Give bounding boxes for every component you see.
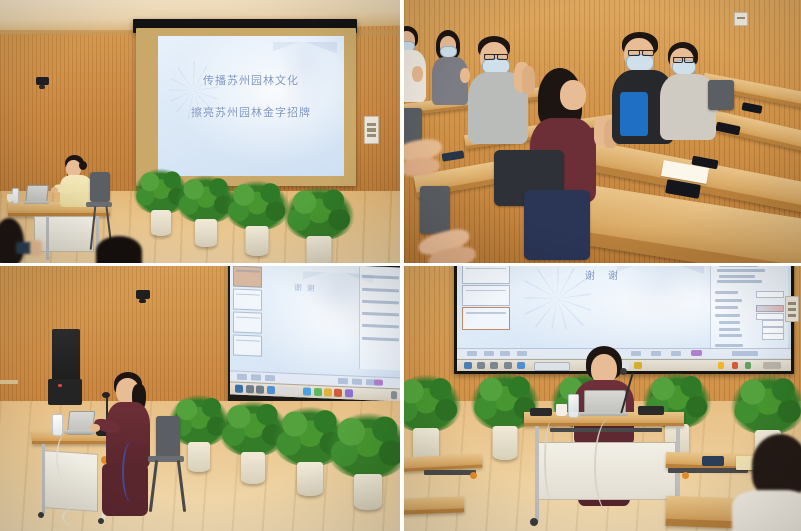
foreground-attendee-hand (30, 240, 42, 256)
chair (524, 190, 590, 260)
presenter-hand (90, 424, 100, 432)
slide-thumbnail[interactable] (233, 335, 262, 357)
wall-socket-icon (785, 296, 799, 322)
projector-screen-frame: 谢 谢 (228, 266, 400, 404)
taskview-icon[interactable] (504, 362, 512, 369)
status-item[interactable] (338, 378, 348, 384)
status-item[interactable] (651, 351, 661, 357)
tray-icon[interactable] (732, 362, 738, 369)
attendee-hand (460, 68, 470, 83)
foreground-attendee-hair (752, 434, 801, 496)
app-icon[interactable] (324, 388, 332, 396)
desk-leg (535, 426, 539, 522)
paper-cup (7, 194, 13, 202)
search-icon[interactable] (477, 362, 485, 369)
foreground-attendee (0, 214, 54, 263)
presenter-hand (51, 187, 58, 193)
projector-screen-surface: 传播苏州园林文化 擦亮苏州园林金字招牌 (158, 36, 344, 176)
potted-plant (283, 186, 355, 263)
floor-cable (544, 422, 558, 498)
panel-bottom-left: 谢 谢 (0, 266, 400, 531)
ceiling-camera-icon (36, 77, 49, 85)
potted-plant (326, 412, 400, 512)
status-item[interactable] (352, 378, 362, 384)
cortana-icon[interactable] (490, 362, 498, 369)
tray-icon[interactable] (391, 391, 397, 399)
floor-cable (62, 506, 104, 528)
water-bottle (568, 394, 579, 418)
laptop-keyboard (24, 201, 49, 204)
power-cable (56, 436, 72, 480)
slide-thumbnail[interactable] (462, 266, 510, 284)
foreground-attendee (96, 236, 142, 263)
app-icon[interactable] (517, 362, 525, 369)
presenter-chair (156, 416, 180, 458)
slide-line-1: 传播苏州园林文化 (158, 72, 344, 88)
status-item[interactable] (237, 374, 247, 380)
camera-mount (39, 85, 45, 89)
paper-cup (556, 404, 567, 416)
zoom-control[interactable] (732, 351, 758, 357)
foreground-attendee-torso (732, 490, 801, 531)
presenter-chair-seat (86, 202, 112, 207)
projector-screen-frame: 传播苏州园林文化 擦亮苏州园林金字招牌 (136, 28, 356, 186)
desk-lock-knob[interactable] (470, 472, 477, 479)
slide-thumbnail[interactable] (233, 311, 262, 333)
floor-cable (594, 418, 626, 514)
app-icon[interactable] (334, 389, 342, 397)
desk-caster (530, 518, 538, 526)
eyeglasses (628, 50, 654, 56)
photo-collage: 传播苏州园林文化 擦亮苏州园林金字招牌 (0, 0, 801, 531)
attendee (470, 36, 542, 146)
slide-thumbnail-pane[interactable] (462, 266, 515, 350)
water-bottle (12, 188, 19, 204)
attendee-shirt-panel (620, 92, 648, 136)
slide-thank-you: 谢 谢 (544, 267, 664, 282)
status-item[interactable] (517, 351, 527, 357)
slide-thumbnail[interactable] (462, 307, 510, 330)
potted-plant (404, 374, 462, 466)
panel-top-right (404, 0, 801, 263)
taskview-icon[interactable] (256, 386, 264, 394)
foreground-attendee-hair (96, 236, 142, 263)
slide-thumbnail[interactable] (233, 288, 262, 310)
app-icon[interactable] (345, 389, 353, 397)
audio-cable (122, 442, 140, 502)
desk-frame (424, 470, 476, 475)
foreground-attendee-hair (0, 218, 24, 263)
format-side-pane[interactable] (710, 266, 788, 353)
format-side-pane[interactable] (359, 267, 400, 371)
app-icon[interactable] (303, 388, 311, 396)
desk-leg (42, 444, 45, 514)
tray-icon[interactable] (718, 362, 724, 369)
search-icon[interactable] (246, 385, 254, 393)
speaker-power-led (58, 384, 62, 387)
app-icon[interactable] (267, 386, 275, 394)
status-item[interactable] (265, 375, 275, 381)
slideshow-button[interactable] (691, 350, 702, 356)
hand (404, 156, 441, 178)
presenter-hair-bun (79, 161, 87, 170)
status-item[interactable] (251, 374, 261, 380)
smartphone (702, 456, 724, 466)
eyeglasses (484, 54, 508, 60)
start-icon[interactable] (464, 362, 472, 369)
audience-desk (404, 496, 464, 515)
chair (404, 108, 422, 144)
handrail (0, 380, 18, 384)
search-field[interactable] (534, 362, 570, 371)
slide-thumbnail[interactable] (462, 285, 510, 306)
microphone-capsule (620, 368, 627, 375)
foreground-attendee (742, 434, 801, 531)
status-item[interactable] (500, 351, 510, 357)
projector-screen-surface: 谢 谢 (230, 266, 400, 402)
wall-socket-icon (734, 12, 748, 26)
potted-plant (224, 180, 290, 258)
slide-line-2: 擦亮苏州园林金字招牌 (158, 104, 344, 120)
panel-bottom-right: 谢 谢 (404, 266, 801, 531)
ceiling-camera-icon (136, 290, 150, 299)
attendee-head (560, 80, 586, 110)
foreground-attendee-hands (404, 140, 468, 186)
presenter-chair (90, 172, 110, 202)
attendee-hand (412, 66, 423, 82)
app-icon[interactable] (277, 386, 299, 395)
hand-sanitizer-bottle (52, 414, 63, 436)
status-item[interactable] (467, 351, 477, 357)
status-item[interactable] (671, 351, 681, 357)
foreground-attendee-hands (418, 226, 498, 263)
desk-caster (38, 512, 44, 518)
clock[interactable] (763, 362, 781, 369)
wall-socket-icon (364, 116, 379, 144)
desk-lock-knob[interactable] (682, 472, 689, 479)
desk-telephone (638, 406, 664, 415)
chair (708, 80, 734, 110)
desk-telephone (530, 408, 552, 416)
camera-mount (139, 299, 146, 303)
powerpoint-window: 谢 谢 (230, 266, 400, 402)
tray-icon[interactable] (745, 362, 751, 369)
panel-top-left: 传播苏州园林文化 擦亮苏州园林金字招牌 (0, 0, 400, 263)
start-icon[interactable] (235, 385, 243, 393)
loudspeaker-base (48, 379, 82, 405)
app-icon[interactable] (314, 388, 322, 396)
status-item[interactable] (484, 351, 494, 357)
slideshow-button[interactable] (374, 379, 383, 386)
eyeglasses (673, 57, 694, 63)
